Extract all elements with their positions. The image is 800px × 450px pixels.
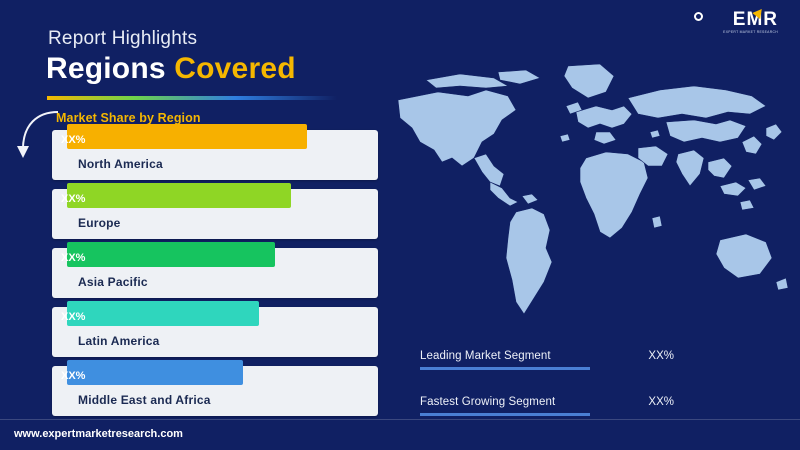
logo-circle-icon [694, 12, 703, 21]
table-row[interactable]: XX% Middle East and Africa [52, 366, 378, 416]
bar-value-label: XX% [61, 252, 85, 264]
bar-category-label: Asia Pacific [78, 275, 148, 289]
segment-value: XX% [648, 350, 674, 362]
bar-fill [67, 301, 259, 326]
world-map [390, 62, 790, 337]
table-row[interactable]: XX% Europe [52, 189, 378, 239]
table-row[interactable]: XX% Latin America [52, 307, 378, 357]
logo-text: EMR [692, 10, 778, 29]
bar-value-label: XX% [61, 193, 85, 205]
table-row[interactable]: XX% North America [52, 130, 378, 180]
bar-value-label: XX% [61, 134, 85, 146]
bar-value-label: XX% [61, 370, 85, 382]
title-underline-gradient [47, 96, 337, 100]
segment-bar [420, 413, 590, 416]
bar-category-label: Middle East and Africa [78, 393, 211, 407]
bar-value-label: XX% [61, 311, 85, 323]
segment-value: XX% [648, 396, 674, 408]
bar-category-label: Europe [78, 216, 121, 230]
market-share-label: Market Share by Region [56, 111, 201, 125]
footer-divider [0, 419, 800, 420]
emr-logo: EMR EXPERT MARKET RESEARCH [692, 10, 778, 44]
segment-bar [420, 367, 590, 370]
bar-fill [67, 183, 291, 208]
logo-tagline: EXPERT MARKET RESEARCH [692, 29, 778, 35]
footer-url[interactable]: www.expertmarketresearch.com [14, 428, 183, 440]
bar-fill [67, 124, 307, 149]
table-row[interactable]: XX% Asia Pacific [52, 248, 378, 298]
segment-label: Leading Market Segment [420, 350, 551, 362]
bar-fill [67, 242, 275, 267]
bar-category-label: Latin America [78, 334, 160, 348]
page-title: Regions Covered [46, 52, 296, 86]
bar-fill [67, 360, 243, 385]
page-title-main: Regions [46, 52, 174, 85]
segment-label: Fastest Growing Segment [420, 396, 555, 408]
eyebrow-text: Report Highlights [48, 28, 197, 50]
page-title-accent: Covered [174, 52, 295, 85]
bar-category-label: North America [78, 157, 163, 171]
region-bar-chart: XX% North America XX% Europe XX% Asia Pa… [52, 130, 378, 425]
slide-canvas: Report Highlights Regions Covered EMR EX… [0, 0, 800, 450]
